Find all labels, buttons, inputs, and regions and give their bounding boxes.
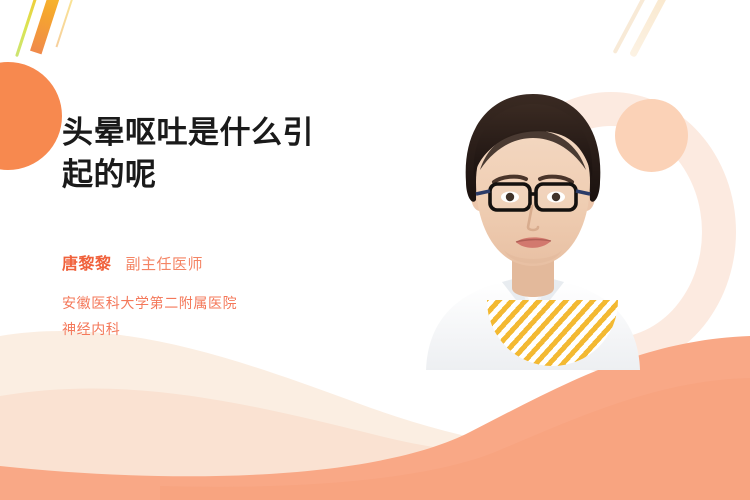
top-left-thin-line-decor — [15, 0, 39, 57]
lens-glare-right — [538, 186, 574, 208]
affiliation-block: 安徽医科大学第二附属医院 神经内科 — [62, 291, 237, 343]
doctor-name: 唐黎黎 — [62, 250, 112, 274]
top-left-thin-line-secondary-decor — [56, 0, 76, 47]
top-right-stroke-b-decor — [629, 0, 675, 58]
video-cover-canvas: 头晕呕吐是什么引 起的呢 唐黎黎 副主任医师 安徽医科大学第二附属医院 神经内科 — [0, 0, 750, 500]
doctor-credit-row: 唐黎黎 副主任医师 — [62, 250, 203, 274]
top-right-stroke-a-decor — [613, 0, 652, 54]
top-left-gradient-bar-decor — [30, 0, 64, 54]
page-title: 头晕呕吐是什么引 起的呢 — [62, 112, 412, 196]
left-orange-circle-decor — [0, 62, 62, 170]
lens-glare-left — [492, 186, 528, 208]
department-name: 神经内科 — [62, 317, 237, 343]
doctor-title: 副主任医师 — [126, 253, 204, 274]
hospital-name: 安徽医科大学第二附属医院 — [62, 291, 237, 317]
headline-block: 头晕呕吐是什么引 起的呢 — [62, 112, 412, 196]
